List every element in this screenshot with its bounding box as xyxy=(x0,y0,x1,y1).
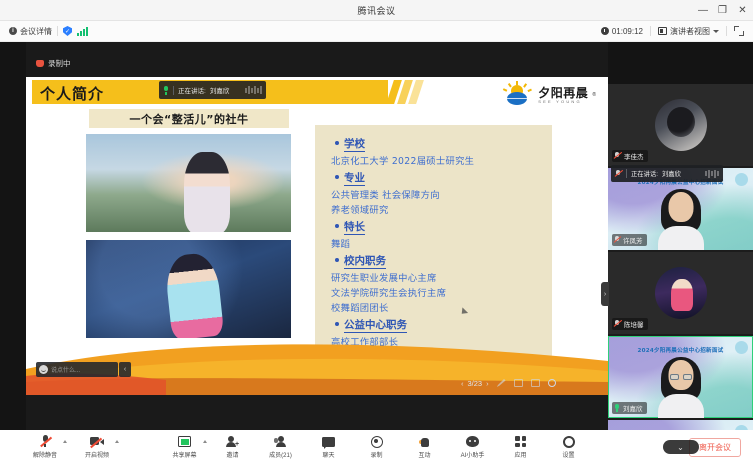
mic-off-icon xyxy=(614,320,621,328)
mic-off-icon xyxy=(615,170,622,178)
ai-assistant-label: AI小助手 xyxy=(461,450,485,459)
clock-icon xyxy=(601,27,609,35)
bullet-line: 文法学院研究生会执行主席 xyxy=(331,285,552,299)
rail-speaking-banner: 正在讲话: 刘嘉欣 xyxy=(611,165,723,182)
fullscreen-icon[interactable] xyxy=(734,26,744,36)
view-mode-label: 演讲者视图 xyxy=(670,26,710,37)
divider xyxy=(57,26,58,36)
audio-wave-icon xyxy=(705,170,719,178)
unmute-label: 解除静音 xyxy=(33,450,57,459)
emoji-icon[interactable] xyxy=(39,365,48,374)
active-speaker-prefix: 正在讲话: xyxy=(178,85,206,95)
participant-name: 陈培馨 xyxy=(624,319,644,329)
apps-label: 应用 xyxy=(514,450,526,459)
chevron-up-icon[interactable] xyxy=(63,440,67,443)
participants-icon xyxy=(274,436,288,447)
apps-icon xyxy=(515,436,526,447)
participant-name: 刘嘉欣 xyxy=(623,403,643,413)
participant-tile[interactable]: 李佳杰 xyxy=(608,84,753,166)
share-screen-button[interactable]: 共享屏幕 xyxy=(168,435,202,459)
start-video-button[interactable]: 开启视频 xyxy=(80,435,114,459)
participant-nametag: 刘嘉欣 xyxy=(612,402,647,414)
participant-nametag: 许凤芳 xyxy=(612,234,647,246)
settings-label: 设置 xyxy=(562,450,574,459)
interaction-label: 互动 xyxy=(418,450,430,459)
meeting-window: 腾讯会议 — ❐ ✕ i 会议详情 01:09:12 演讲者视图 xyxy=(0,0,753,464)
record-icon xyxy=(36,60,44,67)
record-button[interactable]: 录制 xyxy=(360,435,394,459)
bullet-heading: 校内职务 xyxy=(335,253,552,269)
bullet-heading: 特长 xyxy=(335,219,552,235)
logo-en-label: SEE YOUNG xyxy=(538,100,588,104)
bullet-line: 养老领域研究 xyxy=(331,202,552,216)
active-speaker-chip: 正在讲话: 刘嘉欣 xyxy=(159,81,266,99)
divider xyxy=(650,26,651,36)
participant-tile-active[interactable]: 2024夕阳再晨公益中心招新面试 刘嘉欣 xyxy=(608,336,753,418)
layout-icon xyxy=(658,27,667,35)
invite-label: 邀请 xyxy=(226,450,238,459)
prev-slide-button[interactable]: ‹ xyxy=(461,379,464,388)
gear-icon xyxy=(563,436,575,448)
sub-toolbar-right: 01:09:12 演讲者视图 xyxy=(601,26,744,37)
signal-bars-icon[interactable] xyxy=(77,27,88,36)
active-speaker-name: 刘嘉欣 xyxy=(210,85,230,95)
registered-mark: ® xyxy=(592,92,596,98)
participant-name: 许凤芳 xyxy=(623,235,643,245)
rail-speaking-name: 刘嘉欣 xyxy=(662,169,681,178)
ai-assistant-button[interactable]: AI小助手 xyxy=(456,435,490,459)
audio-wave-icon xyxy=(245,86,262,94)
participant-tile[interactable]: 陈培馨 xyxy=(608,252,753,334)
meeting-info-label: 会议详情 xyxy=(20,26,52,37)
start-video-label: 开启视频 xyxy=(85,450,109,459)
virtual-background-logo xyxy=(735,173,748,186)
interaction-button[interactable]: 互动 xyxy=(408,435,442,459)
slide-chat-input[interactable]: 说点什么... xyxy=(36,362,118,377)
share-screen-icon xyxy=(178,436,191,447)
logo-text: 夕阳再晨 SEE YOUNG xyxy=(538,87,588,104)
chat-placeholder: 说点什么... xyxy=(51,365,80,374)
chat-icon xyxy=(322,437,335,447)
logo-cn-label: 夕阳再晨 xyxy=(538,87,588,99)
chat-collapse-button[interactable]: ‹ xyxy=(119,362,131,377)
bullet-line: 校舞蹈团团长 xyxy=(331,300,552,314)
mic-off-icon xyxy=(614,236,620,244)
bullet-line: 北京化工大学 2022届硕士研究生 xyxy=(331,153,552,167)
close-icon[interactable]: ✕ xyxy=(738,6,747,16)
virtual-background-logo xyxy=(735,341,748,354)
mic-on-icon xyxy=(614,404,620,412)
avatar xyxy=(655,267,707,319)
page-stepper: ‹ 3/23 › xyxy=(461,379,489,388)
bullet-line: 舞蹈 xyxy=(331,236,552,250)
stage-left-gutter xyxy=(0,42,26,430)
mic-off-icon xyxy=(614,152,621,160)
toolbar-center-group: 共享屏幕 + 邀请 成员(21) 聊天 录制 互动 xyxy=(168,435,586,459)
record-label: 录制 xyxy=(370,450,382,459)
invite-button[interactable]: + 邀请 xyxy=(216,435,250,459)
participants-label: 成员(21) xyxy=(269,450,292,459)
bullet-heading: 专业 xyxy=(335,170,552,186)
camera-off-icon xyxy=(90,436,104,447)
ai-assistant-icon xyxy=(466,436,479,447)
chevron-down-icon[interactable]: ⌄ xyxy=(663,440,699,454)
chat-label: 聊天 xyxy=(322,450,334,459)
slide-subtitle: 一个会“整活儿”的社牛 xyxy=(130,111,249,127)
minimize-icon[interactable]: — xyxy=(698,6,707,16)
slide-subtitle-band: 一个会“整活儿”的社牛 xyxy=(89,109,289,128)
organization-logo: 夕阳再晨 SEE YOUNG ® xyxy=(502,83,596,107)
meeting-sub-toolbar: i 会议详情 01:09:12 演讲者视图 xyxy=(0,21,753,42)
chevron-up-icon[interactable] xyxy=(115,440,119,443)
window-title: 腾讯会议 xyxy=(357,4,395,17)
invite-icon: + xyxy=(226,436,239,448)
info-icon: i xyxy=(9,27,17,35)
elapsed-time-label: 01:09:12 xyxy=(612,27,643,36)
slide-photo-top xyxy=(86,134,291,232)
meeting-stage: 录制中 个人简介 一个会“整活儿”的社牛 xyxy=(0,42,753,430)
share-screen-label: 共享屏幕 xyxy=(172,450,196,459)
note-icon[interactable] xyxy=(514,379,523,387)
participant-nametag: 陈培馨 xyxy=(612,318,648,330)
whiteboard-icon[interactable] xyxy=(531,379,540,387)
slide-navigation-bar: ‹ 3/23 › xyxy=(453,375,608,391)
shield-check-icon[interactable] xyxy=(63,26,72,36)
mic-on-icon xyxy=(163,86,169,95)
window-title-bar: 腾讯会议 — ❐ ✕ xyxy=(0,0,753,21)
meeting-info-button[interactable]: i 会议详情 xyxy=(9,26,52,37)
elapsed-timer: 01:09:12 xyxy=(601,27,643,36)
apps-button[interactable]: 应用 xyxy=(504,435,538,459)
header-accent-stripes xyxy=(390,80,426,104)
bullet-heading: 学校 xyxy=(335,136,552,152)
participant-rail[interactable]: 李佳杰 2024夕阳再晨公益中心招新面试 许凤芳 陈培馨 xyxy=(608,84,753,464)
meeting-toolbar: 解除静音 开启视频 共享屏幕 + 邀请 成员(21) xyxy=(0,430,753,464)
raise-hand-icon xyxy=(419,436,431,448)
participant-name: 李佳杰 xyxy=(624,151,644,161)
maximize-icon[interactable]: ❐ xyxy=(718,6,727,16)
slide-photo-bottom xyxy=(86,240,291,338)
rail-speaking-prefix: 正在讲话: xyxy=(631,169,658,178)
pen-icon[interactable] xyxy=(497,379,506,387)
participant-nametag: 李佳杰 xyxy=(612,150,648,162)
unmute-button[interactable]: 解除静音 xyxy=(28,435,62,459)
bullet-heading: 公益中心职务 xyxy=(335,317,552,333)
view-mode-selector[interactable]: 演讲者视图 xyxy=(658,26,719,37)
next-slide-button[interactable]: › xyxy=(486,379,489,388)
recording-indicator: 录制中 xyxy=(36,58,71,69)
sunrise-logo-icon xyxy=(502,83,534,107)
rail-collapse-handle[interactable]: › xyxy=(601,282,609,306)
virtual-background-title: 2024夕阳再晨公益中心招新面试 xyxy=(608,346,753,354)
bullet-line: 公共管理类 社会保障方向 xyxy=(331,187,552,201)
recording-label: 录制中 xyxy=(48,58,71,69)
end-share-icon[interactable] xyxy=(548,379,556,387)
toolbar-left-group: 解除静音 开启视频 xyxy=(28,435,114,459)
record-icon xyxy=(371,436,383,448)
chevron-up-icon[interactable] xyxy=(203,440,207,443)
participants-button[interactable]: 成员(21) xyxy=(264,435,298,459)
participant-video xyxy=(657,360,705,418)
shared-screen-area[interactable]: 录制中 个人简介 一个会“整活儿”的社牛 xyxy=(26,42,608,430)
bullet-line: 研究生职业发展中心主席 xyxy=(331,270,552,284)
page-title: 个人简介 xyxy=(40,83,104,104)
divider xyxy=(726,26,727,36)
window-controls: — ❐ ✕ xyxy=(698,0,747,21)
chat-button[interactable]: 聊天 xyxy=(312,435,346,459)
avatar xyxy=(655,99,707,151)
mic-off-icon xyxy=(40,435,51,448)
settings-button[interactable]: 设置 xyxy=(552,435,586,459)
chevron-down-icon xyxy=(713,30,719,33)
sub-toolbar-left: i 会议详情 xyxy=(9,26,88,37)
slide-page-indicator: 3/23 xyxy=(468,379,483,388)
presentation-slide: 个人简介 一个会“整活儿”的社牛 xyxy=(26,77,608,395)
participant-video xyxy=(657,192,705,250)
